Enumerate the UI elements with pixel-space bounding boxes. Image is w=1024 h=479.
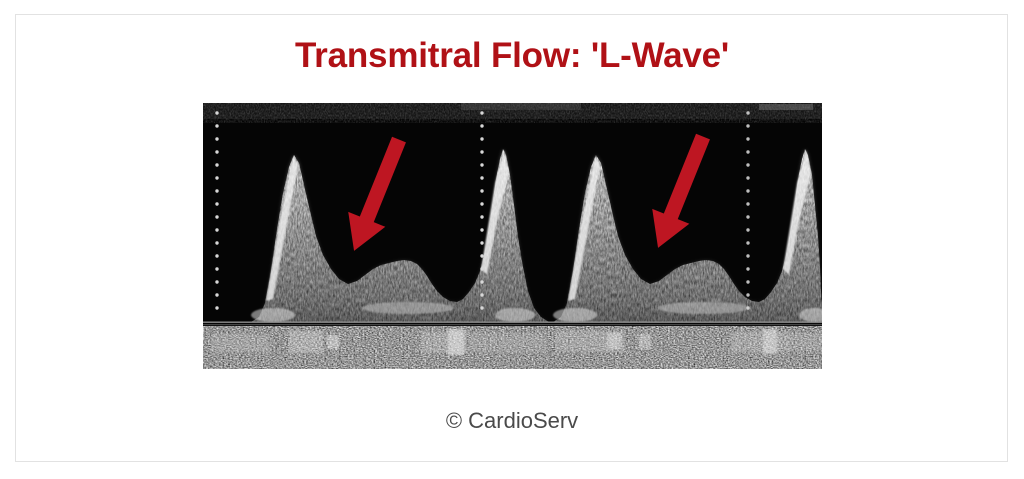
page-title: Transmitral Flow: 'L-Wave' [0, 36, 1024, 76]
copyright-footer: © CardioServ [0, 408, 1024, 434]
top-artifact-right [759, 104, 813, 110]
below-baseline-noise [203, 326, 822, 369]
ultrasound-image [203, 103, 822, 369]
doppler-spectral-svg [203, 103, 822, 369]
zero-baseline [203, 322, 822, 323]
top-artifact-left [461, 103, 581, 110]
zero-baseline-secondary [203, 324, 822, 325]
slide-canvas: Transmitral Flow: 'L-Wave' [0, 0, 1024, 479]
